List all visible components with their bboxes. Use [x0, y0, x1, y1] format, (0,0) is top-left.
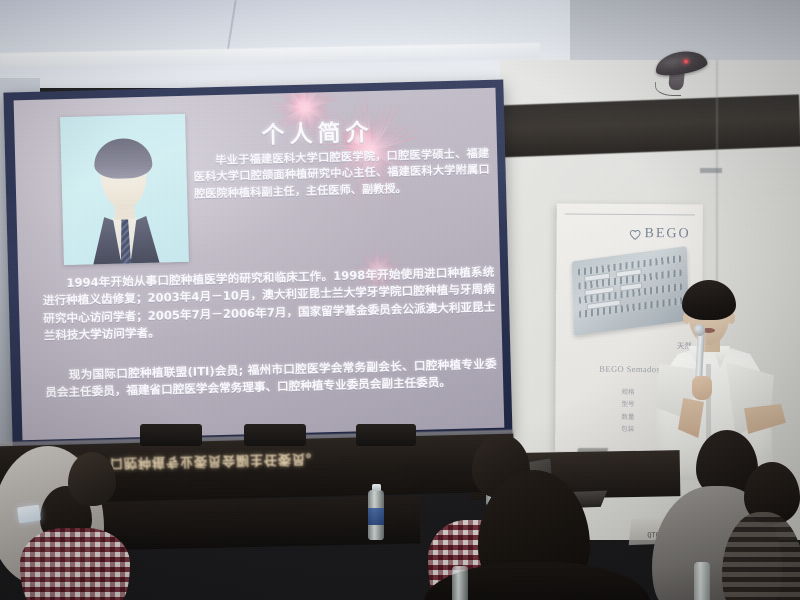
- firework-ray: [305, 88, 317, 108]
- audience-member-checkered-shirt: [20, 528, 130, 600]
- presenter-hair: [682, 280, 736, 320]
- bottle-label: [368, 508, 384, 525]
- banner-divider: [565, 214, 695, 216]
- firework-ray: [275, 88, 306, 108]
- firework-ray: [305, 96, 345, 110]
- projection-screen: 个人简介 毕业于福建医科大学口腔医学院，口腔医学硕士、福建医科大学口腔颌面种植研…: [3, 80, 512, 451]
- firework-ray: [305, 88, 323, 108]
- firework-ray: [305, 88, 329, 109]
- bottle-cap: [372, 484, 381, 491]
- photo-scene: 个人简介 毕业于福建医科大学口腔医学院，口腔医学硕士、福建医科大学口腔颌面种植研…: [0, 0, 800, 600]
- firework-ray: [289, 88, 306, 108]
- water-bottle-3: [452, 566, 468, 600]
- slide-portrait-photo: [60, 114, 189, 265]
- firework-ray: [305, 107, 331, 109]
- security-camera: [655, 52, 725, 100]
- mobile-phone-screen: [17, 505, 41, 524]
- firework-ray: [305, 92, 340, 109]
- firework-ray: [305, 108, 335, 113]
- chair-back: [140, 424, 202, 446]
- slide-paragraph-3: 现为国际口腔种植联盟(ITI)会员; 福州市口腔医学会常务副会长、口腔种植专业委…: [45, 356, 498, 403]
- bego-heart-icon: [628, 227, 641, 240]
- firework-ray: [296, 88, 306, 108]
- firework-ray: [305, 88, 329, 109]
- slide-title: 个人简介: [192, 111, 443, 152]
- audience-member-head: [68, 452, 116, 506]
- firework-ray: [291, 88, 307, 108]
- slide-paragraph-2: 1994年开始从事口腔种植医学的研究和临床工作。1998年开始使用进口种植系统进…: [42, 264, 496, 345]
- bego-logo: BEGO: [628, 226, 690, 242]
- firework-ray: [305, 88, 312, 108]
- firework-ray: [276, 88, 306, 108]
- microphone-head-icon: [694, 324, 705, 336]
- water-bottle-2: [368, 490, 384, 540]
- firework-ray: [267, 106, 304, 109]
- bego-wordmark: BEGO: [644, 226, 690, 242]
- firework-ray: [305, 88, 308, 108]
- firework-ray: [293, 88, 307, 108]
- slide-intro-paragraph: 毕业于福建医科大学口腔医学院，口腔医学硕士、福建医科大学口腔颌面种植研究中心主任…: [193, 146, 490, 203]
- firework-ray: [280, 100, 305, 108]
- firework-ray: [264, 102, 305, 108]
- firework-ray: [305, 90, 334, 110]
- camera-dome-icon: [653, 48, 708, 79]
- firework-ray: [305, 104, 331, 110]
- firework-ray: [277, 95, 305, 108]
- water-bottle-4: [694, 562, 710, 600]
- presenter-hand: [692, 376, 712, 400]
- firework-ray: [301, 88, 306, 108]
- wall-dark-panel: [497, 94, 800, 157]
- firework-ray: [305, 88, 323, 109]
- wall-marking: [700, 168, 722, 173]
- firework-ray: [272, 106, 305, 113]
- chair-back: [244, 424, 306, 446]
- firework-ray: [276, 90, 306, 108]
- chair-back: [356, 424, 416, 446]
- camera-led-indicator: [683, 59, 689, 64]
- slide-surface: 个人简介 毕业于福建医科大学口腔医学院，口腔医学硕士、福建医科大学口腔颌面种植研…: [14, 88, 505, 441]
